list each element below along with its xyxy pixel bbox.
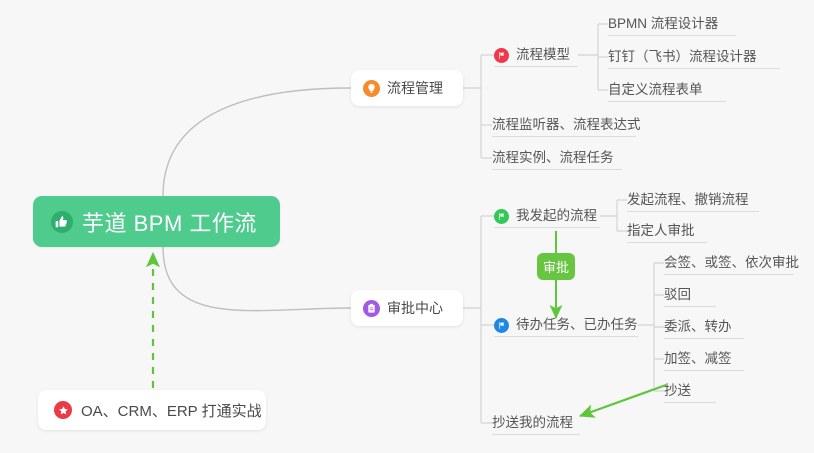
item-add-remove-sign[interactable]: 加签、减签 — [664, 345, 744, 371]
item-assignee-approve[interactable]: 指定人审批 — [627, 217, 707, 243]
item-liucheng-moxing[interactable]: 流程模型 — [494, 41, 578, 67]
annotation-tag-shenpi: 审批 — [537, 253, 575, 280]
root-node[interactable]: 芋道 BPM 工作流 — [33, 196, 280, 247]
root-label: 芋道 BPM 工作流 — [82, 206, 257, 238]
branch-label-shenpi-zhongxin: 审批中心 — [387, 298, 443, 318]
item-label-my-started-process: 我发起的流程 — [516, 208, 597, 224]
item-label-cc: 抄送 — [664, 383, 691, 399]
lightbulb-icon — [363, 80, 380, 97]
item-label-delegate-transfer: 委派、转办 — [664, 319, 732, 335]
item-instance-task[interactable]: 流程实例、流程任务 — [492, 144, 622, 170]
flag-icon — [494, 48, 509, 63]
item-label-todo-done-task: 待办任务、已办任务 — [516, 317, 638, 333]
clipboard-icon — [363, 300, 380, 317]
node-label-oa-crm-erp: OA、CRM、ERP 打通实战 — [81, 400, 262, 421]
item-todo-done-task[interactable]: 待办任务、已办任务 — [494, 311, 638, 337]
item-label-custom-process-form: 自定义流程表单 — [608, 82, 703, 98]
item-label-liucheng-moxing: 流程模型 — [516, 47, 570, 63]
mindmap-canvas: 芋道 BPM 工作流 流程管理 流程模型 BPMN 流程设计器 钉钉（飞书）流程… — [0, 0, 814, 453]
item-label-start-cancel-process: 发起流程、撤销流程 — [627, 192, 749, 208]
branch-label-liucheng-guanli: 流程管理 — [387, 78, 443, 98]
item-label-listener-expression: 流程监听器、流程表达式 — [492, 117, 641, 133]
item-label-bpmn-designer: BPMN 流程设计器 — [608, 16, 718, 32]
annotation-label-shenpi: 审批 — [543, 257, 569, 276]
arrow-cc-to-cc-to-me — [580, 385, 666, 416]
item-custom-process-form[interactable]: 自定义流程表单 — [608, 76, 726, 102]
item-countersign[interactable]: 会签、或签、依次审批 — [664, 249, 794, 275]
branch-node-shenpi-zhongxin[interactable]: 审批中心 — [351, 290, 463, 326]
item-cc-to-me-process[interactable]: 抄送我的流程 — [492, 409, 580, 435]
star-icon — [54, 401, 72, 419]
item-cc[interactable]: 抄送 — [664, 377, 716, 403]
node-oa-crm-erp[interactable]: OA、CRM、ERP 打通实战 — [38, 390, 266, 430]
item-label-reject: 驳回 — [664, 287, 691, 303]
connector-root-to-shenpi-zhongxin — [163, 247, 351, 311]
flag-icon — [494, 209, 509, 224]
item-delegate-transfer[interactable]: 委派、转办 — [664, 313, 744, 339]
item-label-add-remove-sign: 加签、减签 — [664, 351, 732, 367]
item-label-dingtalk-feishu-designer: 钉钉（飞书）流程设计器 — [608, 49, 757, 65]
flag-icon — [494, 318, 509, 333]
branch-node-liucheng-guanli[interactable]: 流程管理 — [351, 70, 463, 106]
item-label-countersign: 会签、或签、依次审批 — [664, 255, 799, 271]
item-label-instance-task: 流程实例、流程任务 — [492, 150, 614, 166]
item-dingtalk-feishu-designer[interactable]: 钉钉（飞书）流程设计器 — [608, 43, 780, 69]
item-listener-expression[interactable]: 流程监听器、流程表达式 — [492, 111, 636, 137]
item-start-cancel-process[interactable]: 发起流程、撤销流程 — [627, 186, 759, 212]
item-label-assignee-approve: 指定人审批 — [627, 223, 695, 239]
item-reject[interactable]: 驳回 — [664, 281, 716, 307]
item-my-started-process[interactable]: 我发起的流程 — [494, 202, 600, 228]
item-label-cc-to-me-process: 抄送我的流程 — [492, 415, 573, 431]
connector-root-to-liucheng-guanli — [163, 88, 351, 196]
item-bpmn-designer[interactable]: BPMN 流程设计器 — [608, 10, 736, 36]
thumbs-up-icon — [51, 211, 73, 233]
